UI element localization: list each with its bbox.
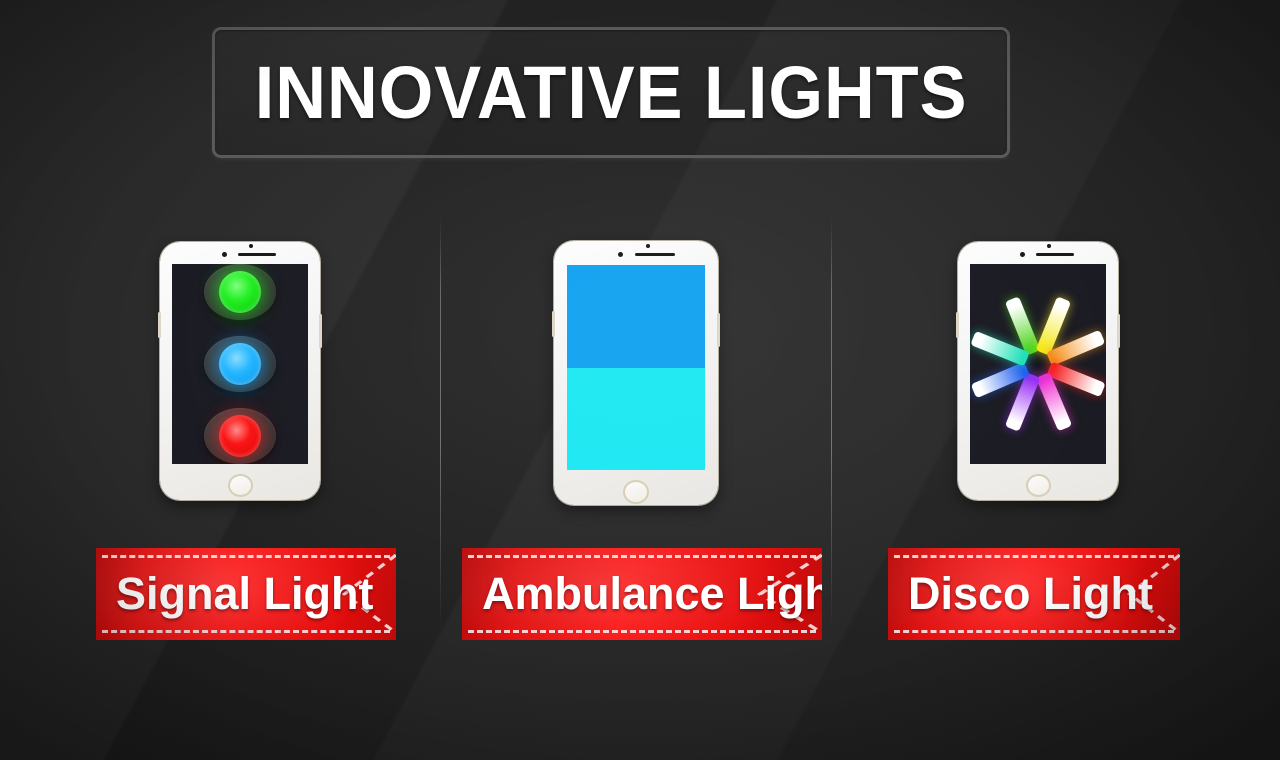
card-label-signal-light: Signal Light (96, 568, 373, 620)
ribbon-disco-light[interactable]: Disco Light (888, 548, 1180, 640)
phone-screen-disco[interactable] (970, 264, 1106, 464)
bulb-red-icon (219, 415, 261, 457)
lamp-red[interactable] (204, 408, 276, 464)
phone-mockup-disco (958, 242, 1118, 500)
proximity-sensor-icon (1047, 244, 1051, 248)
phone-screen-ambulance[interactable] (567, 265, 705, 470)
card-disco-light (958, 242, 1118, 500)
bulb-green-icon (219, 271, 261, 313)
phone-mockup-ambulance (554, 241, 718, 505)
earpiece-speaker-icon (238, 253, 276, 256)
page-title: INNOVATIVE LIGHTS (255, 50, 968, 135)
home-button[interactable] (228, 474, 253, 497)
proximity-sensor-icon (249, 244, 253, 248)
column-divider-left (440, 218, 441, 628)
front-camera-icon (222, 252, 227, 257)
bulb-blue-icon (219, 343, 261, 385)
ribbon-ambulance-light[interactable]: Ambulance Light (462, 548, 822, 640)
phone-screen-signal[interactable] (172, 264, 308, 464)
phone-mockup-signal (160, 242, 320, 500)
lamp-blue[interactable] (204, 336, 276, 392)
earpiece-speaker-icon (635, 253, 675, 256)
signal-light-stack (172, 264, 308, 464)
promo-banner: INNOVATIVE LIGHTS Si (0, 0, 1280, 760)
proximity-sensor-icon (646, 244, 650, 248)
lamp-green[interactable] (204, 264, 276, 320)
card-ambulance-light (554, 241, 718, 505)
card-label-disco-light: Disco Light (888, 568, 1153, 620)
home-button[interactable] (1026, 474, 1051, 497)
front-camera-icon (1020, 252, 1025, 257)
home-button[interactable] (623, 480, 649, 504)
column-divider-right (831, 218, 832, 628)
earpiece-speaker-icon (1036, 253, 1074, 256)
ambulance-panel-bottom (567, 368, 705, 471)
card-label-ambulance-light: Ambulance Light (462, 568, 847, 620)
card-signal-light (160, 242, 320, 500)
disco-light-wheel (970, 264, 1106, 464)
ribbon-signal-light[interactable]: Signal Light (96, 548, 396, 640)
ambulance-panel-top (567, 265, 705, 368)
title-frame: INNOVATIVE LIGHTS (212, 27, 1010, 158)
front-camera-icon (618, 252, 623, 257)
